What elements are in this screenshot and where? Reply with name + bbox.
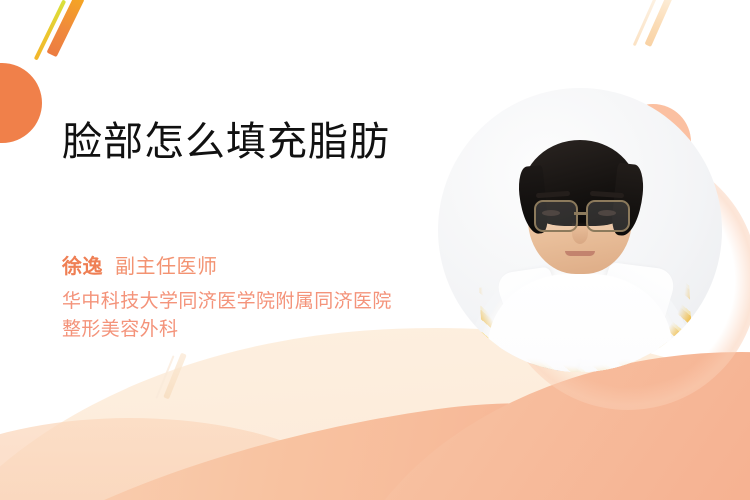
portrait-mouth	[565, 251, 595, 256]
background-wave-lobe	[0, 418, 390, 500]
doctor-article-banner: 脸部怎么填充脂肪 徐逸副主任医师 华中科技大学同济医学院附属同济医院 整形美容外…	[0, 0, 750, 500]
diagonal-stripes-top-right-icon	[628, 0, 698, 52]
affiliation-line-1: 华中科技大学同济医学院附属同济医院	[62, 288, 392, 316]
affiliation-line-2: 整形美容外科	[62, 316, 392, 344]
doctor-role: 副主任医师	[115, 256, 218, 278]
page-title: 脸部怎么填充脂肪	[62, 118, 390, 166]
doctor-portrait-avatar	[438, 88, 722, 372]
orange-circle-icon	[0, 63, 42, 143]
portrait-glasses-lens-right	[586, 200, 630, 232]
doctor-identity-line: 徐逸副主任医师	[62, 250, 218, 279]
portrait-glasses-bridge	[574, 212, 586, 215]
portrait-nose	[572, 222, 588, 244]
diagonal-stripes-top-left-icon	[24, 0, 114, 64]
diagonal-stripes-bottom-left-icon	[152, 352, 202, 406]
doctor-affiliation: 华中科技大学同济医学院附属同济医院 整形美容外科	[62, 288, 392, 344]
stripe-bar	[163, 353, 187, 400]
doctor-name: 徐逸	[62, 256, 103, 278]
